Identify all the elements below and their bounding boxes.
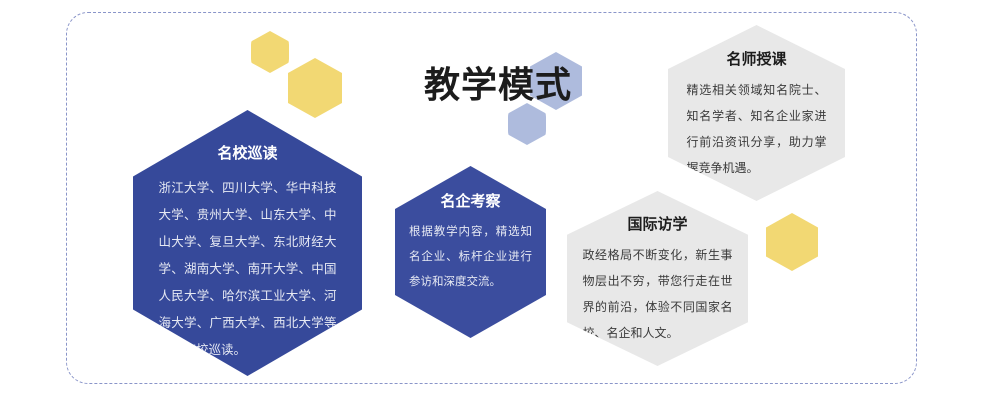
card-body: 根据教学内容，精选知名企业、标杆企业进行参访和深度交流。 [409, 220, 532, 295]
card-title: 名师授课 [726, 48, 786, 69]
card-title: 国际访学 [627, 213, 687, 234]
card-body: 政经格局不断变化，新生事物层出不穷，带您行走在世界的前沿，体验不同国家名校、名企… [583, 242, 733, 346]
infographic-canvas: 教学模式 名校巡读 浙江大学、四川大学、华中科技大学、贵州大学、山东大学、中山大… [0, 0, 989, 410]
card-title: 名校巡读 [217, 142, 277, 163]
page-title: 教学模式 [424, 56, 572, 108]
card-title: 名企考察 [440, 190, 500, 211]
card-body: 精选相关领域知名院士、知名学者、知名企业家进行前沿资讯分享，助力掌握竞争机遇。 [687, 77, 827, 181]
card-body: 浙江大学、四川大学、华中科技大学、贵州大学、山东大学、中山大学、复旦大学、东北财… [159, 175, 337, 364]
